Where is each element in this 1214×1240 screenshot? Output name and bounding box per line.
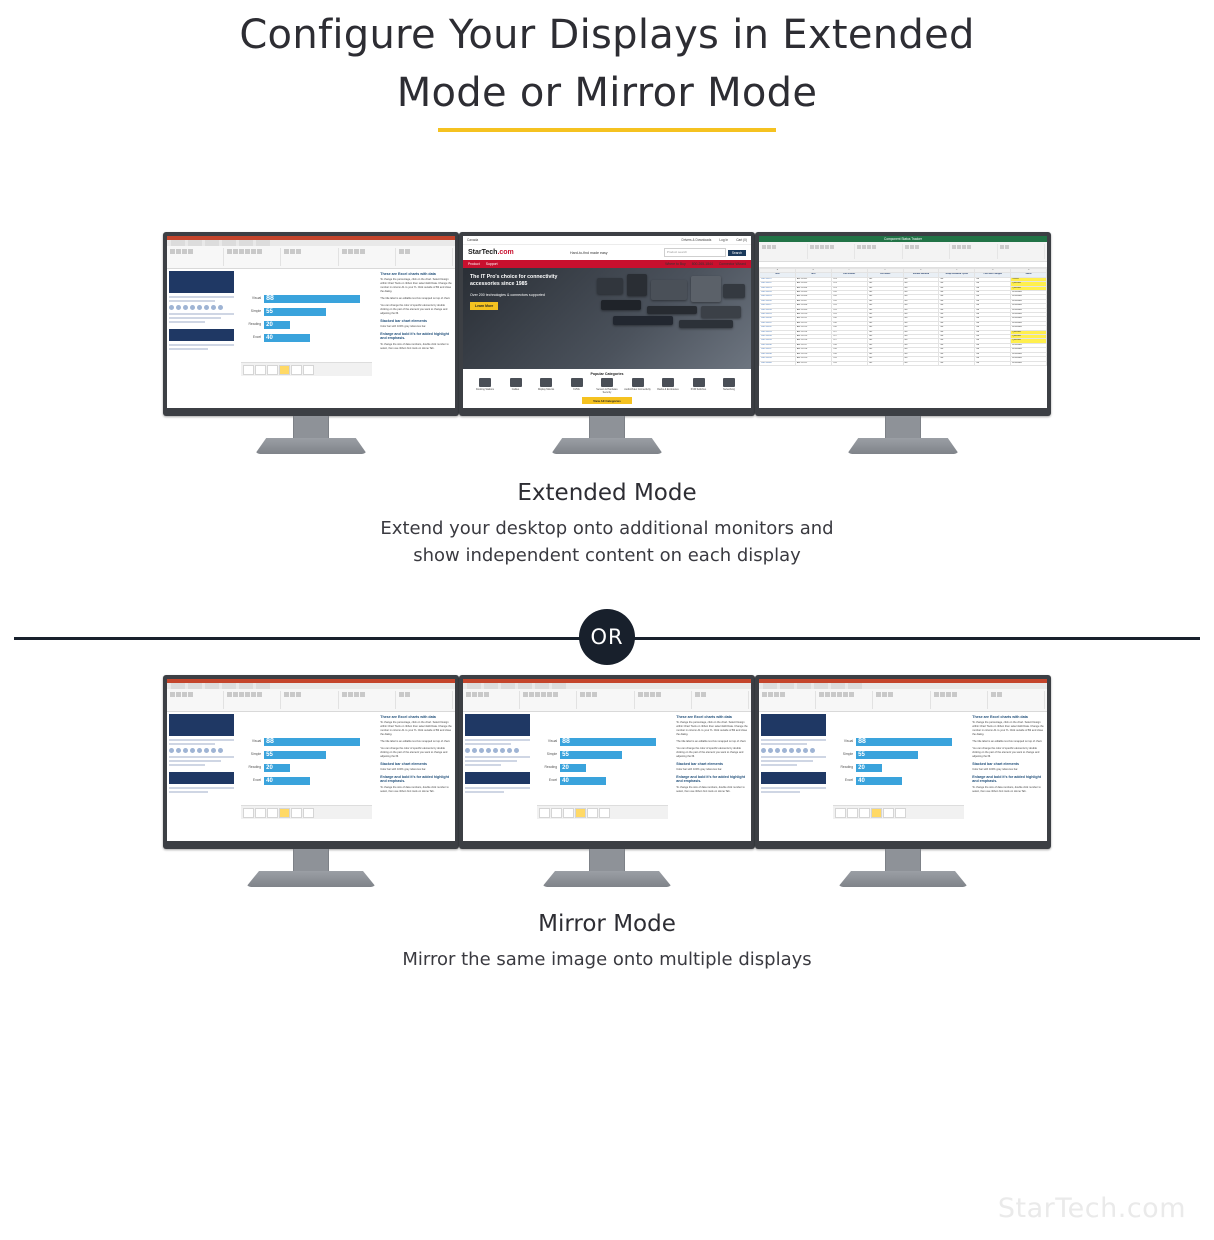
chart-bar-label: Reading bbox=[537, 766, 557, 769]
ribbon-group[interactable] bbox=[226, 691, 281, 709]
chart-bar-row: Reading 20 bbox=[241, 321, 372, 329]
mini-cell bbox=[599, 808, 610, 818]
ribbon-icon[interactable] bbox=[656, 692, 661, 697]
ribbon-icon[interactable] bbox=[762, 245, 766, 249]
ribbon-icon[interactable] bbox=[188, 692, 193, 697]
search-button[interactable]: Search bbox=[728, 250, 746, 256]
ribbon-tab[interactable] bbox=[484, 683, 498, 689]
ribbon-icon[interactable] bbox=[348, 692, 353, 697]
site-link-drivers[interactable]: Drivers & Downloads bbox=[682, 238, 712, 242]
ribbon-icon[interactable] bbox=[940, 692, 945, 697]
ribbon-tab[interactable] bbox=[239, 240, 253, 246]
ribbon-group[interactable] bbox=[809, 244, 856, 259]
monitor-stand-neck bbox=[589, 849, 625, 871]
category-item[interactable]: Servers & Hardware Security bbox=[592, 378, 622, 394]
ribbon-icon[interactable] bbox=[188, 249, 193, 254]
product-image bbox=[613, 316, 673, 325]
ribbon-group[interactable] bbox=[990, 691, 1045, 709]
document-notes: These are Excel charts with data To chan… bbox=[969, 712, 1047, 841]
ribbon-icon[interactable] bbox=[342, 692, 347, 697]
ribbon-tab[interactable] bbox=[797, 683, 811, 689]
chart-bar-row: Simple 55 bbox=[241, 308, 372, 316]
ribbon-icon[interactable] bbox=[997, 692, 1002, 697]
table-cell[interactable]: CNT20140 bbox=[760, 361, 796, 365]
sidebar-line bbox=[169, 739, 234, 741]
ribbon-group[interactable] bbox=[818, 691, 873, 709]
chart-bar-value: 55 bbox=[562, 750, 569, 760]
extended-mode-title: Extended Mode bbox=[0, 480, 1214, 506]
ribbon-group[interactable] bbox=[398, 248, 453, 266]
mini-cell bbox=[587, 808, 598, 818]
chart-bar-row: Visual 88 bbox=[537, 738, 668, 746]
extended-mode-monitor-group: Visual 88 Simple 55 Reading 20 Excel bbox=[0, 232, 1214, 454]
monitor-screen: Canada Drivers & Downloads Log In Cart (… bbox=[463, 236, 751, 408]
ribbon-icon[interactable] bbox=[952, 245, 956, 249]
ribbon-icon[interactable] bbox=[547, 692, 552, 697]
hero-learn-more-button[interactable]: Learn More bbox=[470, 302, 498, 310]
ribbon-icon[interactable] bbox=[176, 249, 181, 254]
ribbon-commands[interactable] bbox=[463, 689, 751, 711]
category-item[interactable]: Display Mounts bbox=[531, 378, 561, 394]
notes-paragraph: To change the percentage, click on the c… bbox=[972, 721, 1044, 737]
ribbon-group[interactable] bbox=[283, 691, 338, 709]
ribbon-icon[interactable] bbox=[825, 692, 830, 697]
ribbon-icon[interactable] bbox=[650, 692, 655, 697]
ribbon-icon[interactable] bbox=[837, 692, 842, 697]
server-security-icon bbox=[601, 378, 613, 387]
ribbon-icon[interactable] bbox=[768, 692, 773, 697]
ribbon-icon[interactable] bbox=[962, 245, 966, 249]
ribbon-icon[interactable] bbox=[905, 245, 909, 249]
ribbon-icon[interactable] bbox=[946, 692, 951, 697]
ribbon-commands[interactable] bbox=[167, 246, 455, 268]
sidebar-banner bbox=[465, 772, 530, 784]
monitor-stand-base bbox=[246, 871, 376, 887]
ribbon-icon[interactable] bbox=[820, 245, 824, 249]
notes-paragraph: To change the size of data numbers, doub… bbox=[676, 786, 748, 794]
ribbon-group[interactable] bbox=[341, 248, 396, 266]
categories-title: Popular Categories bbox=[467, 372, 747, 376]
spreadsheet-table[interactable]: ABCDEFGHItemSKUPart NumberTest StatusSur… bbox=[759, 268, 1047, 366]
ribbon-icon[interactable] bbox=[957, 245, 961, 249]
category-item[interactable]: Networking bbox=[714, 378, 744, 394]
ribbon-group[interactable] bbox=[951, 244, 998, 259]
ribbon-icon[interactable] bbox=[399, 249, 404, 254]
mirror-mode-description: Mirror the same image onto multiple disp… bbox=[0, 946, 1214, 973]
notes-heading: These are Excel charts with data bbox=[380, 272, 452, 276]
chart-bar-label: Simple bbox=[833, 753, 853, 756]
ribbon-icon[interactable] bbox=[245, 692, 250, 697]
document-table-strip bbox=[833, 805, 964, 819]
ribbon-icon[interactable] bbox=[227, 249, 232, 254]
dot-icon bbox=[479, 748, 484, 753]
chart-area: Visual 88 Simple 55 Reading 20 Excel bbox=[236, 712, 377, 841]
ribbon-group[interactable] bbox=[875, 691, 930, 709]
ribbon-group[interactable] bbox=[398, 691, 453, 709]
chart-bar-value: 20 bbox=[858, 763, 865, 773]
site-navigation[interactable]: Product Support Where to Buy 800-265-184… bbox=[463, 260, 751, 268]
category-label: Display Mounts bbox=[538, 388, 554, 391]
ribbon-icon[interactable] bbox=[245, 249, 250, 254]
hero-heading: The IT Pro's choice for connectivity acc… bbox=[470, 274, 565, 289]
ribbon-icon[interactable] bbox=[290, 692, 295, 697]
ribbon-group[interactable] bbox=[933, 691, 988, 709]
ribbon-icon[interactable] bbox=[466, 692, 471, 697]
chart-bar-value: 20 bbox=[266, 320, 273, 330]
dot-icon bbox=[465, 748, 470, 753]
chart-bar: 55 bbox=[856, 751, 918, 759]
mini-cell bbox=[243, 365, 254, 375]
ribbon-icon[interactable] bbox=[767, 245, 771, 249]
ribbon-tab[interactable] bbox=[763, 683, 777, 689]
ribbon-tab[interactable] bbox=[188, 240, 202, 246]
ribbon-icon[interactable] bbox=[233, 692, 238, 697]
mini-cell bbox=[303, 808, 314, 818]
ribbon-icon[interactable] bbox=[857, 245, 861, 249]
document-canvas: Visual 88 Simple 55 Reading 20 Excel bbox=[167, 269, 455, 408]
chart-bar-value: 88 bbox=[266, 294, 274, 304]
nav-item-support[interactable]: Support bbox=[486, 262, 498, 266]
networking-icon bbox=[723, 378, 735, 387]
ribbon-icon[interactable] bbox=[239, 692, 244, 697]
product-image bbox=[679, 320, 733, 328]
site-logo[interactable]: StarTech.com bbox=[468, 249, 514, 256]
ribbon-icon[interactable] bbox=[888, 692, 893, 697]
ribbon-icon[interactable] bbox=[523, 692, 528, 697]
notes-paragraph: You can change the color of specific ele… bbox=[380, 304, 452, 316]
ribbon-group[interactable] bbox=[226, 248, 281, 266]
dot-icon bbox=[197, 748, 202, 753]
mini-cell-highlight bbox=[871, 808, 882, 818]
ribbon-icon[interactable] bbox=[233, 249, 238, 254]
ribbon-icon[interactable] bbox=[296, 692, 301, 697]
chart-bar-value: 55 bbox=[266, 750, 273, 760]
sidebar-line bbox=[761, 739, 826, 741]
chart-bar-value: 40 bbox=[266, 333, 273, 343]
ribbon-icon[interactable] bbox=[701, 692, 706, 697]
product-image bbox=[597, 278, 623, 294]
status-cell[interactable]: In Review bbox=[1011, 361, 1047, 365]
notes-subheading: Stacked bar chart elements bbox=[676, 762, 748, 766]
ribbon-icon[interactable] bbox=[541, 692, 546, 697]
ribbon-icon[interactable] bbox=[354, 249, 359, 254]
table-cell[interactable]: No bbox=[939, 361, 975, 365]
ribbon-group[interactable] bbox=[465, 691, 520, 709]
table-row[interactable]: CNT20140AWY-1021TX9YesNoNoNoIn Review bbox=[760, 361, 1047, 365]
ribbon-commands[interactable] bbox=[167, 689, 455, 711]
ribbon-tab[interactable] bbox=[171, 240, 185, 246]
monitor-bezel: Canada Drivers & Downloads Log In Cart (… bbox=[459, 232, 755, 416]
ribbon-icon[interactable] bbox=[849, 692, 854, 697]
ribbon-icon[interactable] bbox=[227, 692, 232, 697]
ribbon-group[interactable] bbox=[169, 248, 224, 266]
ribbon-icon[interactable] bbox=[472, 692, 477, 697]
chart-bar: 55 bbox=[560, 751, 622, 759]
ribbon-icon[interactable] bbox=[586, 692, 591, 697]
mini-cell bbox=[303, 365, 314, 375]
sidebar-banner bbox=[169, 271, 234, 293]
ribbon-icon[interactable] bbox=[354, 692, 359, 697]
dot-icon bbox=[775, 748, 780, 753]
ribbon-group[interactable] bbox=[761, 691, 816, 709]
chart-bar: 40 bbox=[560, 777, 606, 785]
dot-icon bbox=[176, 305, 181, 310]
monitor-screen: Visual 88 Simple 55 Reading 20 Excel bbox=[167, 236, 455, 408]
ribbon-tab[interactable] bbox=[780, 683, 794, 689]
display-mount-icon bbox=[540, 378, 552, 387]
ribbon-icon[interactable] bbox=[934, 692, 939, 697]
sidebar-line bbox=[761, 743, 807, 745]
monitor-extended-2: Canada Drivers & Downloads Log In Cart (… bbox=[459, 232, 755, 454]
site-search[interactable]: Product search Search bbox=[664, 248, 746, 257]
chart-bar-row: Excel 40 bbox=[537, 777, 668, 785]
mini-cell bbox=[563, 808, 574, 818]
ribbon-icon[interactable] bbox=[910, 245, 914, 249]
mini-table bbox=[243, 365, 314, 375]
monitor-bezel: Visual 88 Simple 55 Reading 20 Excel bbox=[163, 675, 459, 849]
ribbon-icon[interactable] bbox=[862, 245, 866, 249]
ribbon-icon[interactable] bbox=[830, 245, 834, 249]
ribbon-tab[interactable] bbox=[814, 683, 828, 689]
dot-icon bbox=[218, 305, 223, 310]
category-item[interactable]: Cables bbox=[501, 378, 531, 394]
ribbon bbox=[463, 683, 751, 712]
mini-cell bbox=[267, 808, 278, 818]
monitor-mirror-3: Visual 88 Simple 55 Reading 20 Excel bbox=[755, 675, 1051, 887]
ribbon-icon[interactable] bbox=[170, 249, 175, 254]
ribbon-icon[interactable] bbox=[580, 692, 585, 697]
category-label: KVMs bbox=[573, 388, 579, 391]
ribbon-group[interactable] bbox=[522, 691, 577, 709]
page-title: Configure Your Displays in Extended Mode… bbox=[0, 6, 1214, 122]
ribbon-group[interactable] bbox=[283, 248, 338, 266]
table-cell[interactable]: No bbox=[903, 361, 939, 365]
mirror-mode-caption: Mirror Mode Mirror the same image onto m… bbox=[0, 911, 1214, 973]
ribbon-icon[interactable] bbox=[815, 245, 819, 249]
category-item[interactable]: Docking Stations bbox=[470, 378, 500, 394]
spreadsheet-grid[interactable]: ABCDEFGHItemSKUPart NumberTest StatusSur… bbox=[759, 268, 1047, 408]
ribbon-icon[interactable] bbox=[535, 692, 540, 697]
ribbon-tab[interactable] bbox=[831, 683, 845, 689]
ribbon-icon[interactable] bbox=[342, 249, 347, 254]
ribbon-icon[interactable] bbox=[176, 692, 181, 697]
category-item[interactable]: Audio/Video Connectivity bbox=[623, 378, 653, 394]
sidebar-banner bbox=[465, 714, 530, 736]
search-input[interactable]: Product search bbox=[664, 248, 726, 257]
ribbon-tab[interactable] bbox=[205, 240, 219, 246]
ribbon-icon[interactable] bbox=[251, 249, 256, 254]
document-notes: These are Excel charts with data To chan… bbox=[377, 269, 455, 408]
ribbon-group[interactable] bbox=[904, 244, 951, 259]
mini-cell bbox=[539, 808, 550, 818]
product-image bbox=[647, 306, 697, 314]
ribbon-icon[interactable] bbox=[1000, 245, 1004, 249]
ribbon-icon[interactable] bbox=[284, 692, 289, 697]
ribbon-icon[interactable] bbox=[882, 692, 887, 697]
chart-bar-row: Reading 20 bbox=[833, 764, 964, 772]
ribbon-icon[interactable] bbox=[780, 692, 785, 697]
ribbon-tab[interactable] bbox=[171, 683, 185, 689]
ribbon-icon[interactable] bbox=[825, 245, 829, 249]
ribbon-tab[interactable] bbox=[205, 683, 219, 689]
ribbon-icon[interactable] bbox=[360, 692, 365, 697]
ribbon-icon[interactable] bbox=[915, 245, 919, 249]
view-all-categories-button[interactable]: View All Categories bbox=[582, 397, 632, 404]
nav-item-product[interactable]: Product bbox=[468, 262, 480, 266]
ribbon-icon[interactable] bbox=[644, 692, 649, 697]
monitor-mirror-1: Visual 88 Simple 55 Reading 20 Excel bbox=[163, 675, 459, 887]
table-cell[interactable]: TX9 bbox=[831, 361, 867, 365]
sidebar-line bbox=[761, 756, 826, 758]
dot-icon bbox=[211, 748, 216, 753]
sidebar-dot-grid bbox=[169, 748, 234, 753]
sidebar-line bbox=[169, 348, 208, 350]
ribbon-group[interactable] bbox=[999, 244, 1046, 259]
site-link-cart[interactable]: Cart (0) bbox=[736, 238, 747, 242]
ribbon-icon[interactable] bbox=[553, 692, 558, 697]
ribbon-group[interactable] bbox=[341, 691, 396, 709]
category-label: KVM Switches bbox=[691, 388, 706, 391]
ribbon-tab[interactable] bbox=[501, 683, 515, 689]
ribbon-icon[interactable] bbox=[831, 692, 836, 697]
site-link-login[interactable]: Log In bbox=[719, 238, 728, 242]
ribbon-group[interactable] bbox=[694, 691, 749, 709]
ribbon-icon[interactable] bbox=[360, 249, 365, 254]
ribbon-icon[interactable] bbox=[772, 245, 776, 249]
table-cell[interactable]: Yes bbox=[867, 361, 903, 365]
chart-bar: 40 bbox=[264, 334, 310, 342]
mirror-mode-monitor-group: Visual 88 Simple 55 Reading 20 Excel bbox=[0, 675, 1214, 887]
ribbon-icon[interactable] bbox=[762, 692, 767, 697]
monitor-bezel: Visual 88 Simple 55 Reading 20 Excel bbox=[163, 232, 459, 416]
notes-subheading: Stacked bar chart elements bbox=[380, 762, 452, 766]
ribbon-tab[interactable] bbox=[239, 683, 253, 689]
ribbon-tab[interactable] bbox=[256, 683, 270, 689]
ribbon-icon[interactable] bbox=[872, 245, 876, 249]
or-badge: OR bbox=[579, 609, 635, 665]
ribbon-icon[interactable] bbox=[876, 692, 881, 697]
ribbon-group[interactable] bbox=[637, 691, 692, 709]
ribbon-tab[interactable] bbox=[222, 240, 236, 246]
chart-bar: 20 bbox=[856, 764, 882, 772]
categories-list[interactable]: Docking Stations Cables Display Mounts K… bbox=[467, 378, 747, 394]
ribbon-icon[interactable] bbox=[810, 245, 814, 249]
ribbon-icon[interactable] bbox=[405, 692, 410, 697]
ribbon-icon[interactable] bbox=[695, 692, 700, 697]
ribbon-group[interactable] bbox=[761, 244, 808, 259]
document-sidebar bbox=[167, 712, 236, 841]
mini-cell bbox=[291, 808, 302, 818]
ribbon-icon[interactable] bbox=[296, 249, 301, 254]
notes-heading: These are Excel charts with data bbox=[676, 715, 748, 719]
dot-icon bbox=[197, 305, 202, 310]
product-image bbox=[691, 276, 721, 302]
ribbon-commands[interactable] bbox=[759, 689, 1047, 711]
product-image bbox=[723, 284, 745, 298]
ribbon-icon[interactable] bbox=[284, 249, 289, 254]
ribbon-tab[interactable] bbox=[518, 683, 532, 689]
spreadsheet-ribbon[interactable] bbox=[759, 242, 1047, 262]
ribbon-icon[interactable] bbox=[774, 692, 779, 697]
ribbon-icon[interactable] bbox=[819, 692, 824, 697]
ribbon-icon[interactable] bbox=[867, 245, 871, 249]
monitor-stand-neck bbox=[885, 416, 921, 438]
cable-icon bbox=[510, 378, 522, 387]
ribbon-icon[interactable] bbox=[182, 692, 187, 697]
ribbon-tab[interactable] bbox=[535, 683, 549, 689]
mini-table bbox=[243, 808, 314, 818]
ribbon-icon[interactable] bbox=[405, 249, 410, 254]
monitor-extended-1: Visual 88 Simple 55 Reading 20 Excel bbox=[163, 232, 459, 454]
nav-item-where-to-buy[interactable]: Where to Buy bbox=[665, 262, 686, 266]
ribbon-icon[interactable] bbox=[399, 692, 404, 697]
ribbon-icon[interactable] bbox=[592, 692, 597, 697]
ribbon-group[interactable] bbox=[169, 691, 224, 709]
ribbon-icon[interactable] bbox=[1005, 245, 1009, 249]
chart-bar-label: Excel bbox=[537, 779, 557, 782]
ribbon-tab[interactable] bbox=[552, 683, 566, 689]
mini-cell bbox=[243, 808, 254, 818]
ribbon-icon[interactable] bbox=[239, 249, 244, 254]
ribbon-icon[interactable] bbox=[290, 249, 295, 254]
ribbon-tab[interactable] bbox=[467, 683, 481, 689]
ribbon-icon[interactable] bbox=[251, 692, 256, 697]
monitor-stand-neck bbox=[589, 416, 625, 438]
ribbon-icon[interactable] bbox=[170, 692, 175, 697]
ribbon-icon[interactable] bbox=[348, 249, 353, 254]
ribbon-icon[interactable] bbox=[529, 692, 534, 697]
nav-item-connector-wizard[interactable]: Connector Wizard bbox=[719, 262, 746, 266]
sidebar-line bbox=[465, 756, 530, 758]
category-item[interactable]: Racks & Enclosures bbox=[653, 378, 683, 394]
ribbon-icon[interactable] bbox=[257, 249, 262, 254]
ribbon-icon[interactable] bbox=[967, 245, 971, 249]
ribbon-icon[interactable] bbox=[952, 692, 957, 697]
site-region[interactable]: Canada bbox=[467, 238, 478, 242]
ribbon-tab[interactable] bbox=[222, 683, 236, 689]
monitor-screen: Visual 88 Simple 55 Reading 20 Excel bbox=[759, 679, 1047, 841]
ribbon-icon[interactable] bbox=[478, 692, 483, 697]
sidebar-line bbox=[169, 344, 234, 346]
notes-heading: These are Excel charts with data bbox=[380, 715, 452, 719]
category-item[interactable]: KVM Switches bbox=[684, 378, 714, 394]
sidebar-dot-grid bbox=[465, 748, 530, 753]
ribbon-tab[interactable] bbox=[848, 683, 862, 689]
ribbon-icon[interactable] bbox=[638, 692, 643, 697]
ribbon-icon[interactable] bbox=[484, 692, 489, 697]
table-cell[interactable]: AWY-1021 bbox=[795, 361, 831, 365]
nav-item-phone[interactable]: 800-265-1844 bbox=[692, 262, 713, 266]
category-label: Networking bbox=[723, 388, 735, 391]
ribbon-group[interactable] bbox=[579, 691, 634, 709]
ribbon-icon[interactable] bbox=[182, 249, 187, 254]
ribbon-tab[interactable] bbox=[188, 683, 202, 689]
kvm-icon bbox=[571, 378, 583, 387]
table-cell[interactable]: No bbox=[975, 361, 1011, 365]
ribbon-tab[interactable] bbox=[256, 240, 270, 246]
ribbon-icon[interactable] bbox=[843, 692, 848, 697]
ribbon-icon[interactable] bbox=[257, 692, 262, 697]
mini-cell bbox=[255, 365, 266, 375]
dot-icon bbox=[472, 748, 477, 753]
chart-bar: 88 bbox=[560, 738, 656, 746]
ribbon-group[interactable] bbox=[856, 244, 903, 259]
sidebar-banner bbox=[761, 714, 826, 736]
ribbon-icon[interactable] bbox=[991, 692, 996, 697]
sidebar-line bbox=[465, 760, 517, 762]
category-item[interactable]: KVMs bbox=[562, 378, 592, 394]
page-title-line-1: Configure Your Displays in Extended bbox=[239, 12, 974, 58]
